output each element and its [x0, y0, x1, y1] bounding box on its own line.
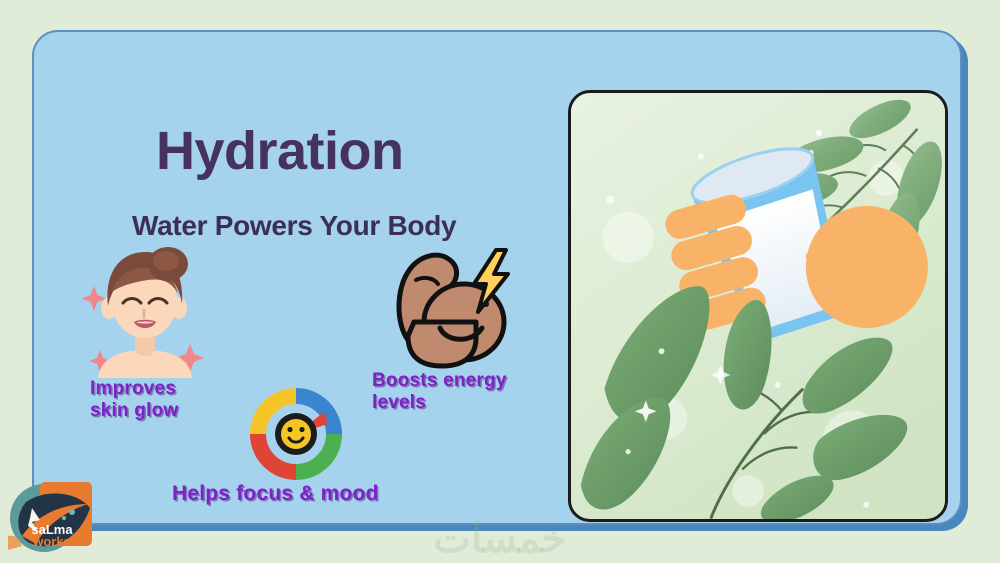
mood-meter-icon: [246, 384, 346, 484]
feature-label-energy-line1: Boosts energy: [372, 370, 507, 391]
hydration-illustration: [568, 90, 948, 522]
feature-label-skin: Improves skin glow: [90, 378, 240, 423]
watermark: خمسات: [0, 516, 1000, 562]
page-title: Hydration: [156, 120, 404, 182]
feature-label-mood: Helps focus & mood: [172, 482, 472, 507]
feature-label-skin-line2: skin glow: [90, 400, 178, 421]
infographic-canvas: Hydration Water Powers Your Body: [0, 0, 1000, 563]
feature-label-skin-line1: Improves: [90, 378, 176, 399]
feature-label-energy-line2: levels: [372, 392, 426, 413]
woman-face-icon: [78, 246, 212, 378]
feature-label-energy: Boosts energy levels: [372, 370, 542, 415]
flexed-bicep-icon: [386, 244, 516, 370]
hydration-card: Hydration Water Powers Your Body: [32, 30, 962, 525]
page-subtitle: Water Powers Your Body: [132, 210, 456, 242]
